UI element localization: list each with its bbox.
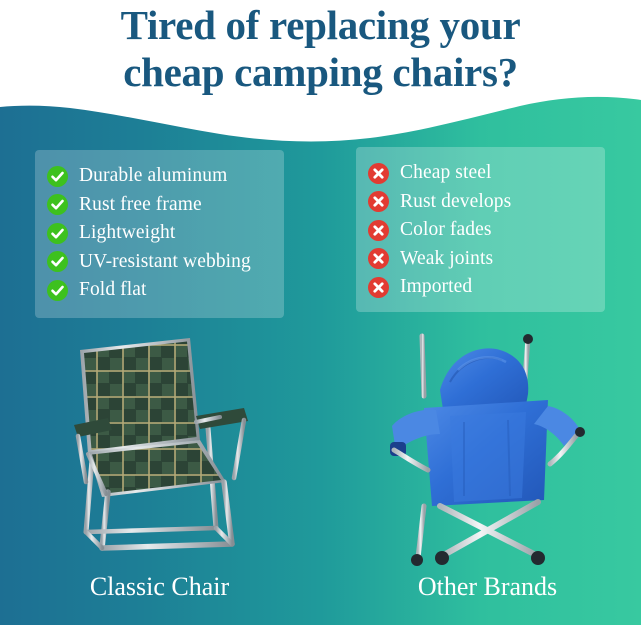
cons-list: Cheap steel Rust develops Color fades We… — [368, 159, 591, 302]
check-circle-icon — [47, 223, 68, 244]
list-item: Durable aluminum — [47, 162, 270, 191]
list-item-label: Weak joints — [400, 248, 493, 270]
check-circle-icon — [47, 194, 68, 215]
list-item: Weak joints — [368, 245, 591, 274]
x-circle-icon — [368, 277, 389, 298]
list-item-label: Rust free frame — [79, 194, 202, 216]
headline-line-1: Tired of replacing your — [0, 2, 641, 49]
pros-panel: Durable aluminum Rust free frame Lightwe… — [35, 150, 284, 318]
x-circle-icon — [368, 163, 389, 184]
cons-panel: Cheap steel Rust develops Color fades We… — [356, 147, 605, 312]
check-circle-icon — [47, 280, 68, 301]
list-item: UV-resistant webbing — [47, 248, 270, 277]
list-item-label: UV-resistant webbing — [79, 251, 251, 273]
list-item: Cheap steel — [368, 159, 591, 188]
list-item: Rust develops — [368, 188, 591, 217]
product-caption-right: Other Brands — [355, 572, 620, 602]
list-item-label: Rust develops — [400, 191, 511, 213]
product-caption-left: Classic Chair — [27, 572, 292, 602]
list-item-label: Durable aluminum — [79, 165, 227, 187]
page-title: Tired of replacing your cheap camping ch… — [0, 2, 641, 96]
list-item: Rust free frame — [47, 191, 270, 220]
x-circle-icon — [368, 191, 389, 212]
pros-list: Durable aluminum Rust free frame Lightwe… — [47, 162, 270, 305]
infographic-poster: Tired of replacing your cheap camping ch… — [0, 0, 641, 625]
x-circle-icon — [368, 220, 389, 241]
headline-line-2: cheap camping chairs? — [0, 49, 641, 96]
list-item-label: Color fades — [400, 219, 492, 241]
aluminum-webbed-lawn-chair-photo — [58, 332, 270, 564]
list-item: Lightweight — [47, 219, 270, 248]
x-circle-icon — [368, 248, 389, 269]
list-item-label: Lightweight — [79, 222, 175, 244]
list-item: Color fades — [368, 216, 591, 245]
list-item: Fold flat — [47, 276, 270, 305]
check-circle-icon — [47, 251, 68, 272]
list-item: Imported — [368, 273, 591, 302]
list-item-label: Imported — [400, 276, 472, 298]
blue-fabric-folding-camp-chair-photo — [388, 330, 596, 568]
list-item-label: Fold flat — [79, 279, 147, 301]
check-circle-icon — [47, 166, 68, 187]
list-item-label: Cheap steel — [400, 162, 492, 184]
